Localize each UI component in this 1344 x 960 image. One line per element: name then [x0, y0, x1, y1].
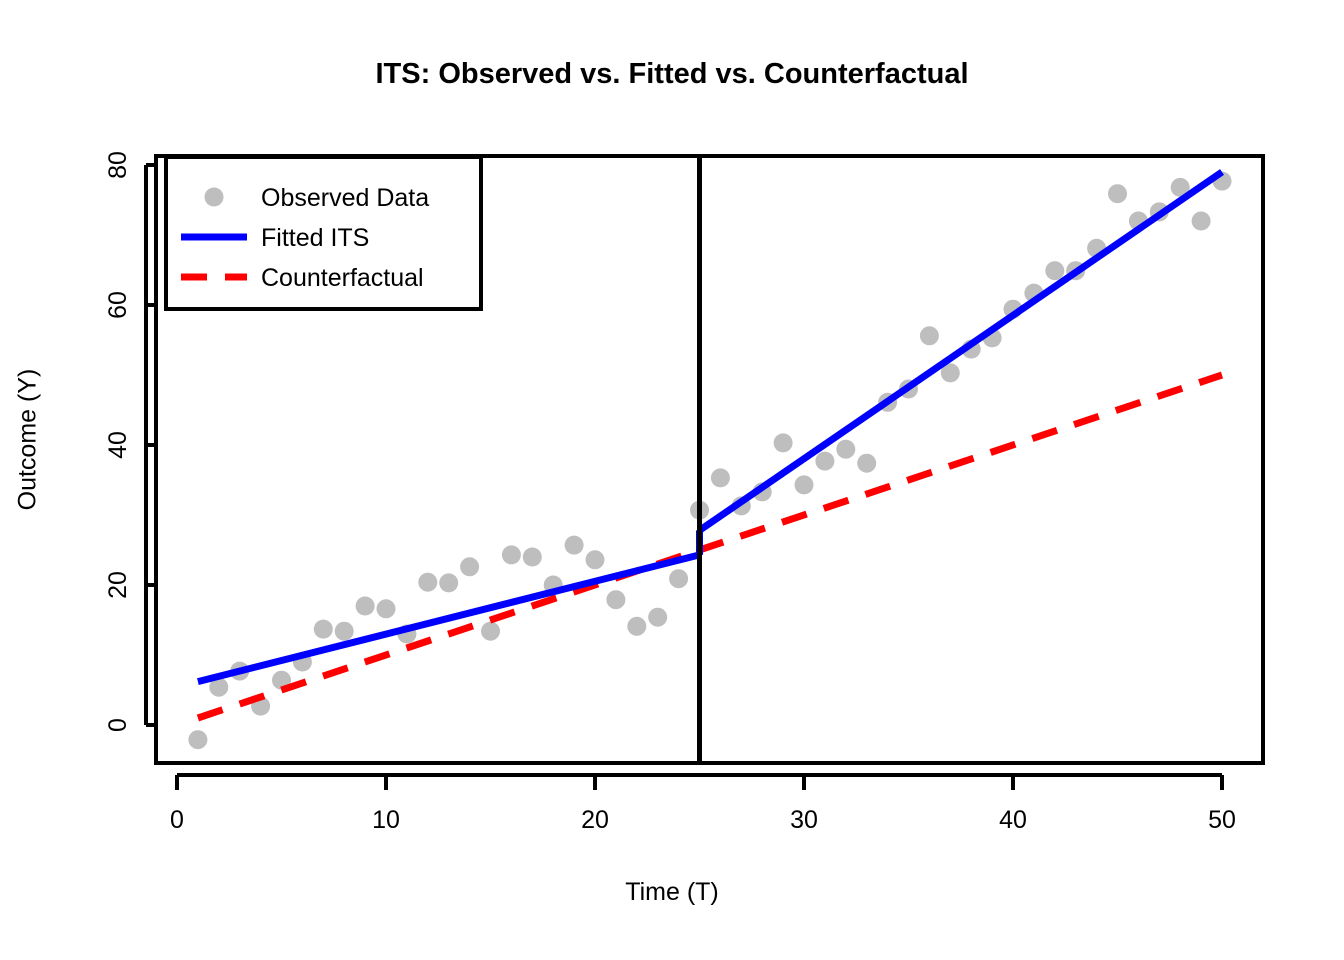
legend-label: Fitted ITS	[261, 224, 369, 252]
y-axis-tick-label: 20	[104, 571, 132, 599]
data-point	[314, 620, 333, 639]
data-point	[523, 548, 542, 567]
legend: Observed DataFitted ITSCounterfactual	[166, 157, 481, 309]
data-point	[1045, 261, 1064, 280]
data-point	[188, 730, 207, 749]
legend-label: Counterfactual	[261, 264, 424, 292]
data-point	[669, 569, 688, 588]
legend-label: Observed Data	[261, 184, 429, 212]
data-point	[502, 545, 521, 564]
chart-figure: ITS: Observed vs. Fitted vs. Counterfact…	[0, 0, 1344, 960]
y-axis-tick-label: 40	[104, 431, 132, 459]
data-point	[1108, 184, 1127, 203]
y-axis-tick-label: 0	[104, 718, 132, 732]
data-point	[586, 550, 605, 569]
x-axis-tick-label: 40	[999, 806, 1027, 834]
counterfactual-line	[198, 375, 1222, 718]
data-point	[606, 590, 625, 609]
data-point	[920, 326, 939, 345]
fitted-its-line-segment-2	[700, 172, 1223, 530]
data-point	[627, 617, 646, 636]
data-point	[815, 452, 834, 471]
data-point	[648, 608, 667, 627]
y-axis-label: Outcome (Y)	[14, 320, 43, 560]
data-point	[439, 573, 458, 592]
legend-marker-observed-icon	[205, 188, 224, 207]
data-point	[795, 475, 814, 494]
data-point	[1192, 212, 1211, 231]
data-point	[377, 599, 396, 618]
data-point	[857, 454, 876, 473]
x-axis-tick-label: 20	[581, 806, 609, 834]
x-axis-tick-label: 30	[790, 806, 818, 834]
data-point	[335, 622, 354, 641]
data-point	[356, 597, 375, 616]
data-point	[711, 468, 730, 487]
x-axis-tick-label: 50	[1208, 806, 1236, 834]
data-point	[460, 557, 479, 576]
data-point	[418, 573, 437, 592]
plot-canvas: 02040608001020304050Observed DataFitted …	[0, 0, 1344, 960]
y-axis-tick-label: 60	[104, 291, 132, 319]
x-axis-tick-label: 0	[170, 806, 184, 834]
data-point	[774, 433, 793, 452]
data-point	[481, 622, 500, 641]
y-axis-tick-label: 80	[104, 151, 132, 179]
x-axis-label: Time (T)	[0, 878, 1344, 907]
data-point	[565, 536, 584, 555]
x-axis-tick-label: 10	[372, 806, 400, 834]
data-point	[836, 440, 855, 459]
